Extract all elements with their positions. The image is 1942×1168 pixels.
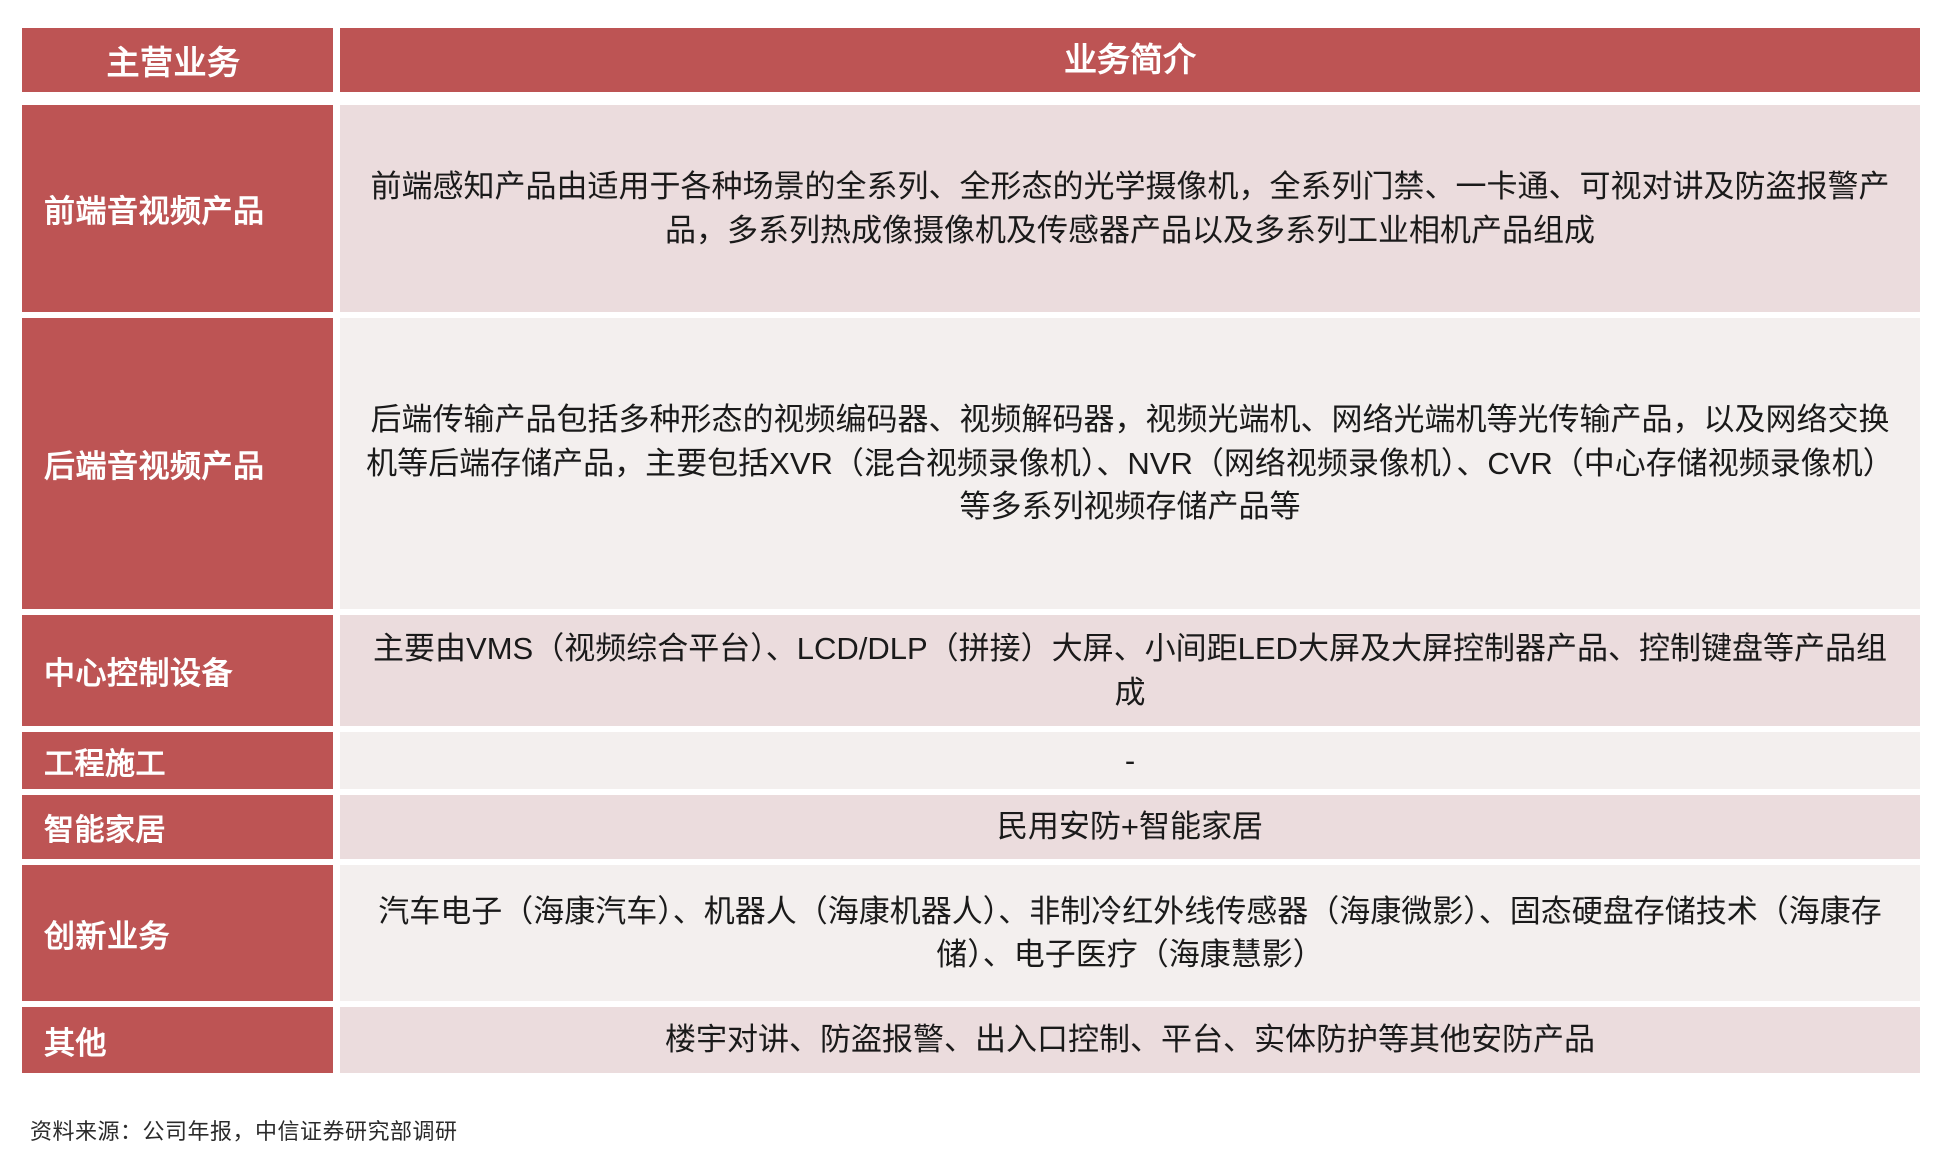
row-label-text: 工程施工 — [44, 739, 166, 783]
row-description-text: 楼宇对讲、防盗报警、出入口控制、平台、实体防护等其他安防产品 — [362, 1018, 1898, 1061]
row-description-front-end-av: 前端感知产品由适用于各种场景的全系列、全形态的光学摄像机，全系列门禁、一卡通、可… — [340, 105, 1920, 312]
column-header-business-intro-label: 业务简介 — [1064, 37, 1196, 83]
row-description-engineering: - — [340, 732, 1920, 789]
row-description-text: 前端感知产品由适用于各种场景的全系列、全形态的光学摄像机，全系列门禁、一卡通、可… — [362, 165, 1898, 252]
row-label-text: 中心控制设备 — [44, 648, 233, 693]
table-row: 后端音视频产品 后端传输产品包括多种形态的视频编码器、视频解码器，视频光端机、网… — [22, 318, 1920, 609]
row-label-engineering: 工程施工 — [22, 732, 333, 789]
table-header-row: 主营业务 业务简介 — [22, 28, 1920, 92]
row-description-text: 汽车电子（海康汽车）、机器人（海康机器人）、非制冷红外线传感器（海康微影）、固态… — [362, 890, 1898, 977]
row-label-text: 智能家居 — [44, 805, 166, 849]
row-label-front-end-av: 前端音视频产品 — [22, 105, 333, 312]
source-note: 资料来源：公司年报，中信证券研究部调研 — [30, 1114, 458, 1146]
row-description-others: 楼宇对讲、防盗报警、出入口控制、平台、实体防护等其他安防产品 — [340, 1007, 1920, 1073]
column-header-main-business-label: 主营业务 — [107, 36, 241, 84]
row-description-central-control: 主要由VMS（视频综合平台）、LCD/DLP（拼接）大屏、小间距LED大屏及大屏… — [340, 615, 1920, 726]
table-row: 创新业务 汽车电子（海康汽车）、机器人（海康机器人）、非制冷红外线传感器（海康微… — [22, 865, 1920, 1001]
row-description-text: 后端传输产品包括多种形态的视频编码器、视频解码器，视频光端机、网络光端机等光传输… — [362, 398, 1898, 528]
column-header-business-intro: 业务简介 — [340, 28, 1920, 92]
row-description-back-end-av: 后端传输产品包括多种形态的视频编码器、视频解码器，视频光端机、网络光端机等光传输… — [340, 318, 1920, 609]
table-figure: 主营业务 业务简介 前端音视频产品 前端感知产品由适用于各种场景的全系列、全形态… — [0, 0, 1942, 1168]
table-row: 中心控制设备 主要由VMS（视频综合平台）、LCD/DLP（拼接）大屏、小间距L… — [22, 615, 1920, 726]
table-row: 前端音视频产品 前端感知产品由适用于各种场景的全系列、全形态的光学摄像机，全系列… — [22, 105, 1920, 312]
row-label-smart-home: 智能家居 — [22, 795, 333, 859]
row-description-smart-home: 民用安防+智能家居 — [340, 795, 1920, 859]
row-description-text: 主要由VMS（视频综合平台）、LCD/DLP（拼接）大屏、小间距LED大屏及大屏… — [362, 627, 1898, 714]
row-description-text: 民用安防+智能家居 — [362, 805, 1898, 848]
row-label-innovation: 创新业务 — [22, 865, 333, 1001]
table-row: 工程施工 - — [22, 732, 1920, 789]
table-row: 其他 楼宇对讲、防盗报警、出入口控制、平台、实体防护等其他安防产品 — [22, 1007, 1920, 1073]
row-label-text: 前端音视频产品 — [44, 186, 265, 231]
row-label-central-control: 中心控制设备 — [22, 615, 333, 726]
table-row: 智能家居 民用安防+智能家居 — [22, 795, 1920, 859]
row-label-back-end-av: 后端音视频产品 — [22, 318, 333, 609]
row-description-innovation: 汽车电子（海康汽车）、机器人（海康机器人）、非制冷红外线传感器（海康微影）、固态… — [340, 865, 1920, 1001]
column-header-main-business: 主营业务 — [22, 28, 333, 92]
row-label-text: 其他 — [44, 1018, 107, 1063]
row-description-text: - — [362, 739, 1898, 782]
row-label-text: 创新业务 — [44, 911, 170, 956]
row-label-others: 其他 — [22, 1007, 333, 1073]
business-summary-table: 主营业务 业务简介 前端音视频产品 前端感知产品由适用于各种场景的全系列、全形态… — [22, 28, 1920, 1079]
row-label-text: 后端音视频产品 — [44, 441, 265, 486]
